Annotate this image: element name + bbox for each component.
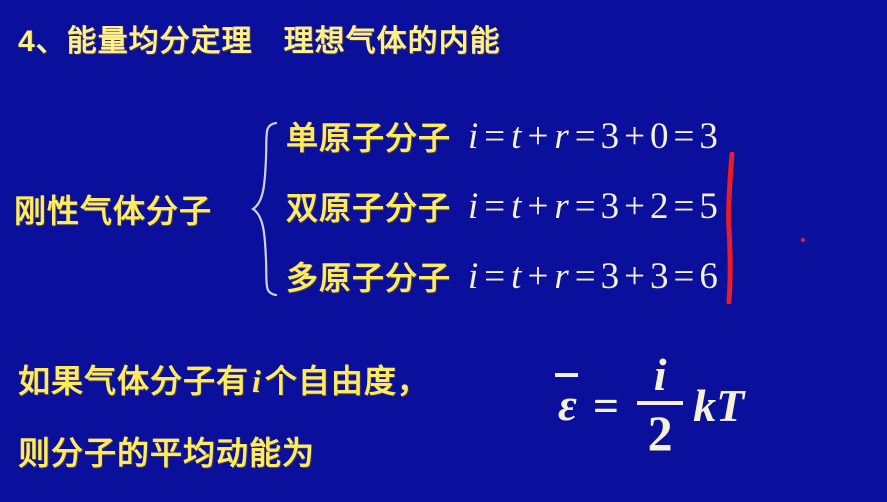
equals-sign: = — [668, 116, 699, 157]
epsilon-bar-symbol: ε — [556, 382, 579, 428]
variable-r: r — [553, 186, 569, 227]
conclusion-prefix: 如果气体分子有 — [18, 363, 249, 399]
degrees-of-freedom-equation: i=t+r=3+2=5 — [467, 185, 718, 228]
equals-sign: = — [570, 186, 601, 227]
plus-sign: + — [522, 116, 553, 157]
fraction-numerator: i — [654, 352, 667, 401]
translational-value: 3 — [601, 256, 620, 297]
rigid-gas-molecule-label: 刚性气体分子 — [14, 186, 212, 232]
molecule-type-label: 单原子分子 — [286, 113, 451, 159]
plus-sign: + — [619, 256, 650, 297]
variable-i: i — [467, 186, 479, 227]
total-dof-value: 3 — [699, 116, 718, 157]
translational-value: 3 — [601, 116, 620, 157]
variable-i: i — [467, 256, 479, 297]
plus-sign: + — [619, 186, 650, 227]
rotational-value: 2 — [650, 186, 669, 227]
left-curly-brace-icon — [250, 120, 284, 298]
plus-sign: + — [619, 116, 650, 157]
variable-r: r — [553, 116, 569, 157]
degrees-of-freedom-equation: i=t+r=3+3=6 — [467, 255, 718, 298]
kT-factor: kT — [687, 379, 744, 432]
overbar-icon — [555, 373, 578, 377]
table-row: 多原子分子 i=t+r=3+3=6 — [286, 250, 718, 302]
equals-sign: = — [479, 186, 510, 227]
translational-value: 3 — [601, 186, 620, 227]
equals-sign: = — [668, 256, 699, 297]
degrees-of-freedom-equation: i=t+r=3+0=3 — [467, 115, 718, 158]
conclusion-line-1: 如果气体分子有i个自由度， — [18, 356, 430, 402]
epsilon-glyph: ε — [558, 379, 577, 430]
variable-r: r — [553, 256, 569, 297]
fraction-denominator: 2 — [648, 405, 673, 458]
plus-sign: + — [522, 256, 553, 297]
variable-i-inline: i — [249, 363, 265, 399]
equals-sign: = — [579, 379, 633, 432]
equals-sign: = — [479, 116, 510, 157]
equals-sign: = — [570, 256, 601, 297]
red-vertical-stroke-annotation — [716, 152, 744, 304]
rotational-value: 3 — [650, 256, 669, 297]
fraction-i-over-2: i 2 — [633, 352, 687, 458]
slide-canvas: 4、能量均分定理 理想气体的内能 刚性气体分子 单原子分子 i=t+r=3+0=… — [0, 0, 887, 502]
equals-sign: = — [570, 116, 601, 157]
page-title: 4、能量均分定理 理想气体的内能 — [18, 16, 501, 60]
table-row: 双原子分子 i=t+r=3+2=5 — [286, 180, 718, 232]
table-row: 单原子分子 i=t+r=3+0=3 — [286, 110, 718, 162]
variable-i: i — [467, 116, 479, 157]
conclusion-line-2: 则分子的平均动能为 — [18, 428, 315, 474]
variable-t: t — [510, 256, 522, 297]
plus-sign: + — [522, 186, 553, 227]
variable-t: t — [510, 116, 522, 157]
equals-sign: = — [479, 256, 510, 297]
red-dot-mark — [801, 238, 805, 242]
mean-kinetic-energy-formula: ε = i 2 kT — [556, 352, 744, 458]
rotational-value: 0 — [650, 116, 669, 157]
variable-t: t — [510, 186, 522, 227]
molecule-type-label: 多原子分子 — [286, 253, 451, 299]
equals-sign: = — [668, 186, 699, 227]
molecule-type-label: 双原子分子 — [286, 183, 451, 229]
conclusion-suffix: 个自由度， — [265, 363, 430, 399]
